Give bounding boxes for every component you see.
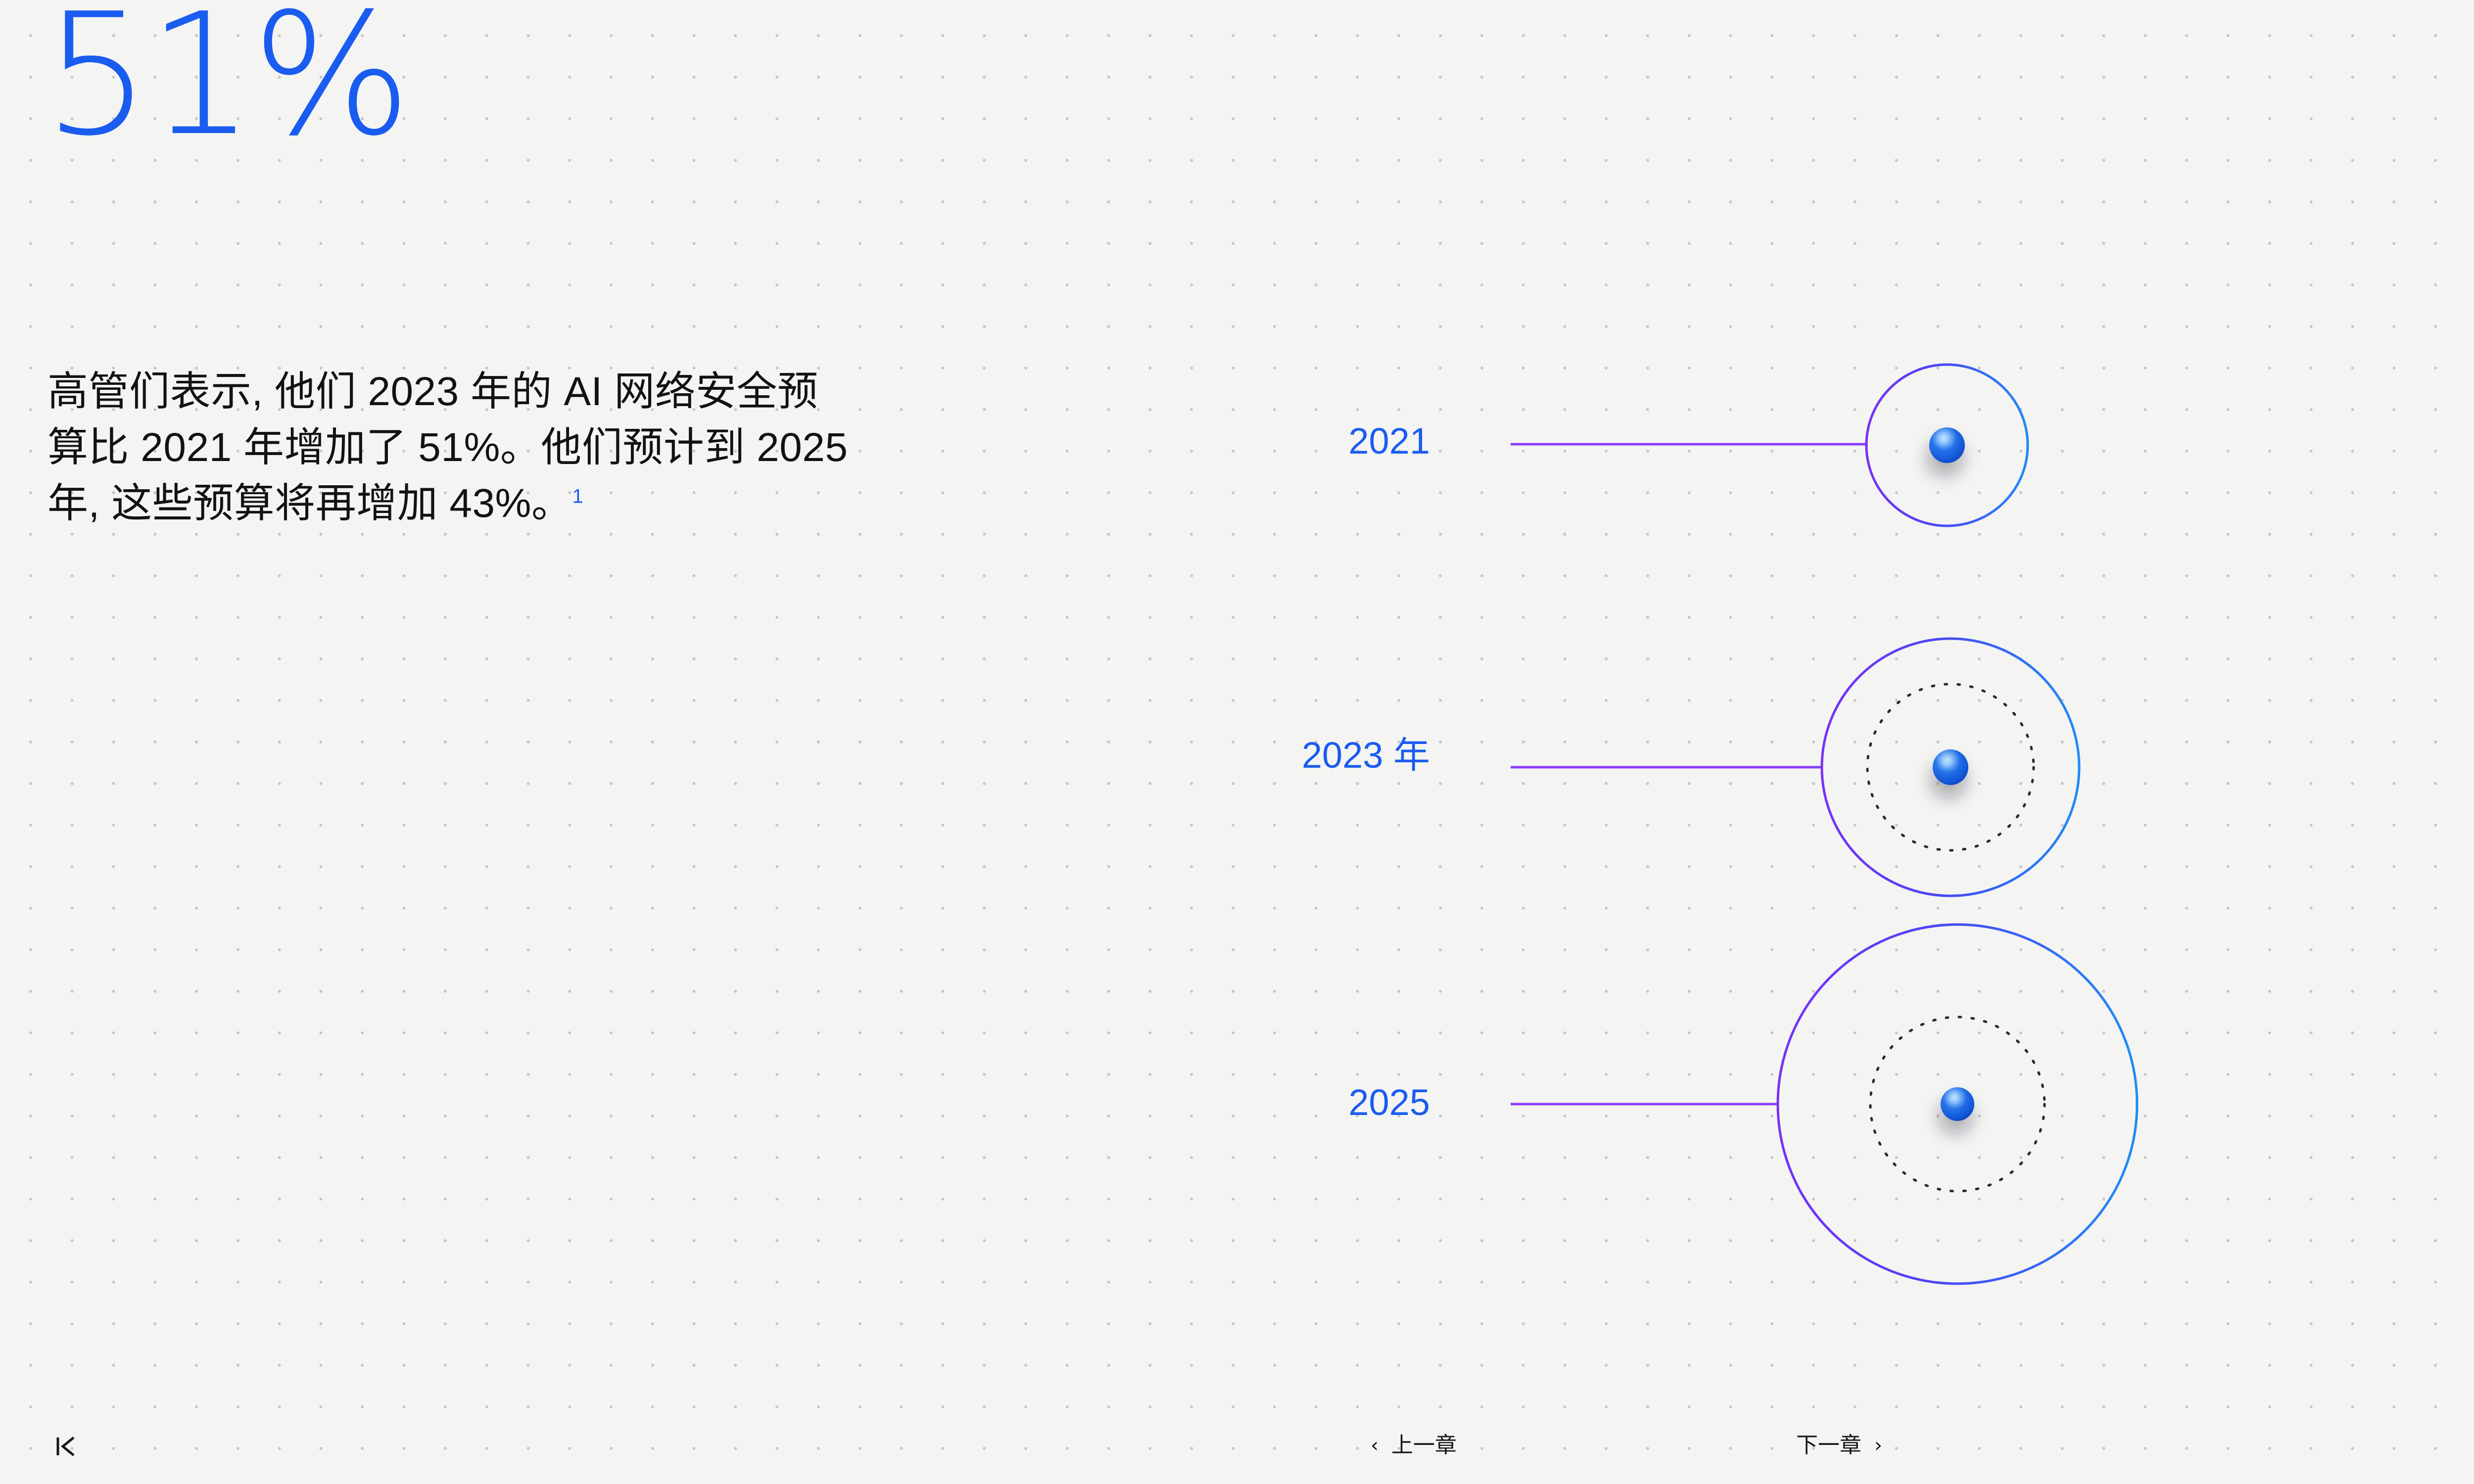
next-chapter-label: 下一章: [1796, 1435, 1861, 1456]
prev-chapter-label: 上一章: [1391, 1435, 1457, 1456]
bubble-dot-gloss-2023: [1933, 749, 1968, 785]
footer-bar: ‹ 上一章 下一章 › 8: [0, 1410, 2474, 1484]
slide-canvas: 51% 高管们表示, 他们 2023 年的 AI 网络安全预算比 2021 年增…: [0, 0, 2474, 1484]
prev-chapter-button[interactable]: ‹ 上一章: [1371, 1435, 1457, 1456]
bubble-label-2025: 2025: [1222, 1084, 1430, 1121]
bubble-dot-gloss-2021: [1929, 427, 1965, 463]
bubble-label-2023: 2023 年: [1222, 737, 1430, 774]
bubble-label-2021: 2021: [1222, 423, 1430, 460]
bubble-group-2025[interactable]: [1511, 925, 2137, 1284]
bubble-group-2021[interactable]: [1511, 365, 2028, 526]
next-chapter-button[interactable]: 下一章 ›: [1796, 1435, 1882, 1456]
bubble-group-2023[interactable]: [1511, 639, 2079, 896]
chevron-left-icon: ‹: [1371, 1436, 1379, 1455]
bubble-dot-gloss-2025: [1941, 1087, 1974, 1121]
skip-to-first-icon[interactable]: [51, 1431, 86, 1462]
chevron-right-icon: ›: [1874, 1436, 1882, 1455]
